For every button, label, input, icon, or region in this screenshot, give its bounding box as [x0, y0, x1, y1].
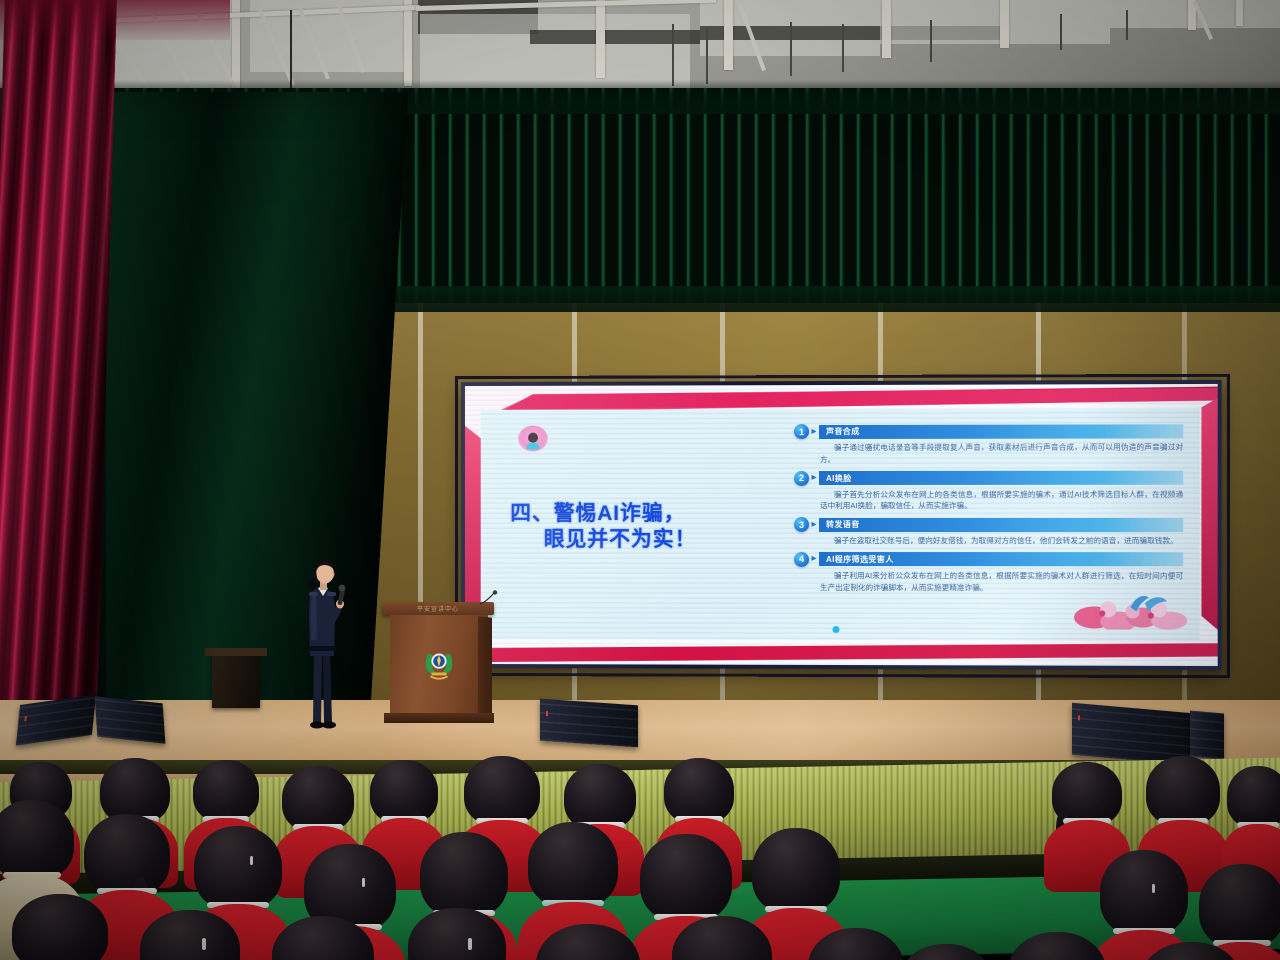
list-item — [1004, 932, 1110, 960]
list-item — [896, 944, 996, 960]
list-item — [268, 916, 378, 960]
list-item — [404, 908, 510, 960]
student-audience — [0, 756, 1280, 960]
list-item — [804, 928, 908, 960]
stage-monitor-center — [540, 699, 638, 748]
police-emblem — [420, 645, 458, 683]
magenta-curtain-valance — [0, 0, 230, 40]
list-item — [532, 924, 644, 960]
list-item — [136, 910, 244, 960]
podium-side-panel — [478, 616, 492, 717]
podium-nameplate: 平安宣讲中心 — [384, 604, 492, 613]
rear-stage-equipment-top — [205, 648, 267, 656]
rear-stage-equipment — [212, 652, 260, 708]
podium-base — [384, 713, 494, 723]
list-item — [668, 916, 776, 960]
list-item — [8, 894, 112, 960]
auditorium-photo: 四、警惕AI诈骗， 眼见并不为实！ 1 ▸ 声音合成 骗子通过骚扰电话录音等手段… — [0, 0, 1280, 960]
podium-microphone — [478, 590, 498, 606]
list-item — [1226, 766, 1280, 880]
stage-monitor-left-2 — [95, 696, 166, 743]
stage-monitor-right-side — [1190, 711, 1224, 760]
magenta-curtain-folds — [0, 0, 106, 772]
police-officer-presenter — [300, 540, 346, 730]
list-item — [1136, 942, 1246, 960]
screen-bezel — [455, 374, 1230, 678]
